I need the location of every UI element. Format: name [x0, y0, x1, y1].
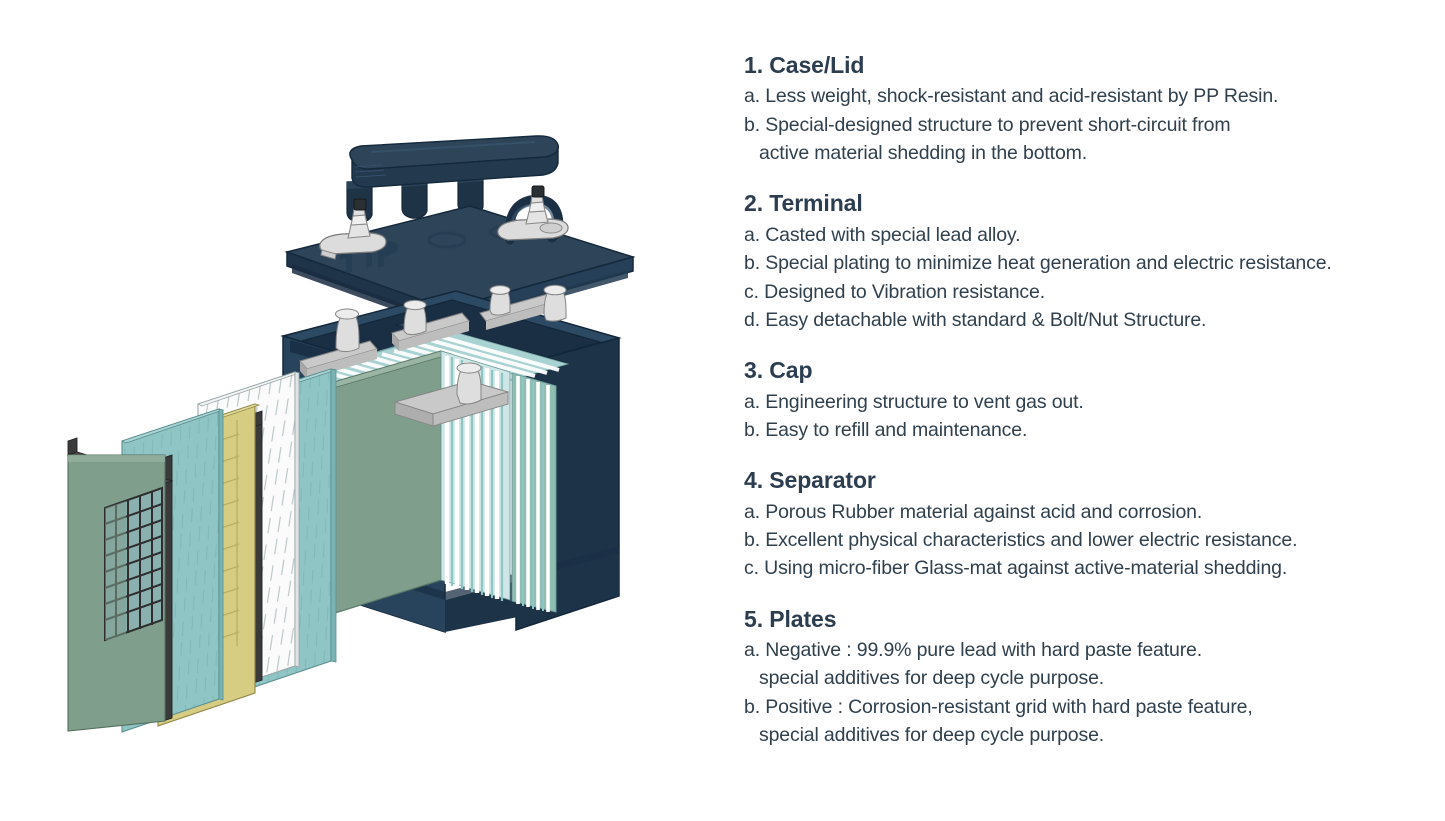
spec-section-case-lid: 1. Case/Lid a. Less weight, shock-resist… [744, 50, 1424, 167]
spec-section-plates: 5. Plates a. Negative : 99.9% pure lead … [744, 604, 1424, 750]
spec-heading: 1. Case/Lid [744, 50, 1424, 80]
spec-line: c. Designed to Vibration resistance. [744, 278, 1424, 306]
spec-line: b. Easy to refill and maintenance. [744, 416, 1424, 444]
negative-grid-mesh [105, 488, 162, 640]
spec-heading: 5. Plates [744, 604, 1424, 634]
spec-line: active material shedding in the bottom. [744, 139, 1424, 167]
spec-line: b. Excellent physical characteristics an… [744, 526, 1424, 554]
spec-section-separator: 4. Separator a. Porous Rubber material a… [744, 465, 1424, 582]
spec-line: b. Special-designed structure to prevent… [744, 111, 1424, 139]
spec-line: a. Negative : 99.9% pure lead with hard … [744, 636, 1424, 664]
spec-line: b. Special plating to minimize heat gene… [744, 249, 1424, 277]
cap-strip-part [347, 136, 558, 222]
spec-line: d. Easy detachable with standard & Bolt/… [744, 306, 1424, 334]
spec-line: c. Using micro-fiber Glass-mat against a… [744, 554, 1424, 582]
battery-spec-list: 1. Case/Lid a. Less weight, shock-resist… [744, 50, 1424, 750]
spec-line: special additives for deep cycle purpose… [744, 664, 1424, 692]
spec-heading: 4. Separator [744, 465, 1424, 495]
spec-line: special additives for deep cycle purpose… [744, 721, 1424, 749]
spec-section-terminal: 2. Terminal a. Casted with special lead … [744, 188, 1424, 334]
spec-line: a. Engineering structure to vent gas out… [744, 388, 1424, 416]
spec-line: b. Positive : Corrosion-resistant grid w… [744, 693, 1424, 721]
battery-exploded-illustration [0, 0, 730, 821]
spec-line: a. Less weight, shock-resistant and acid… [744, 82, 1424, 110]
plate-negative [68, 438, 172, 731]
spec-line: a. Casted with special lead alloy. [744, 221, 1424, 249]
post-far-right [544, 285, 566, 321]
spec-section-cap: 3. Cap a. Engineering structure to vent … [744, 355, 1424, 444]
page-root: 1. Case/Lid a. Less weight, shock-resist… [0, 0, 1445, 821]
spec-heading: 2. Terminal [744, 188, 1424, 218]
spec-heading: 3. Cap [744, 355, 1424, 385]
spec-line: a. Porous Rubber material against acid a… [744, 498, 1424, 526]
